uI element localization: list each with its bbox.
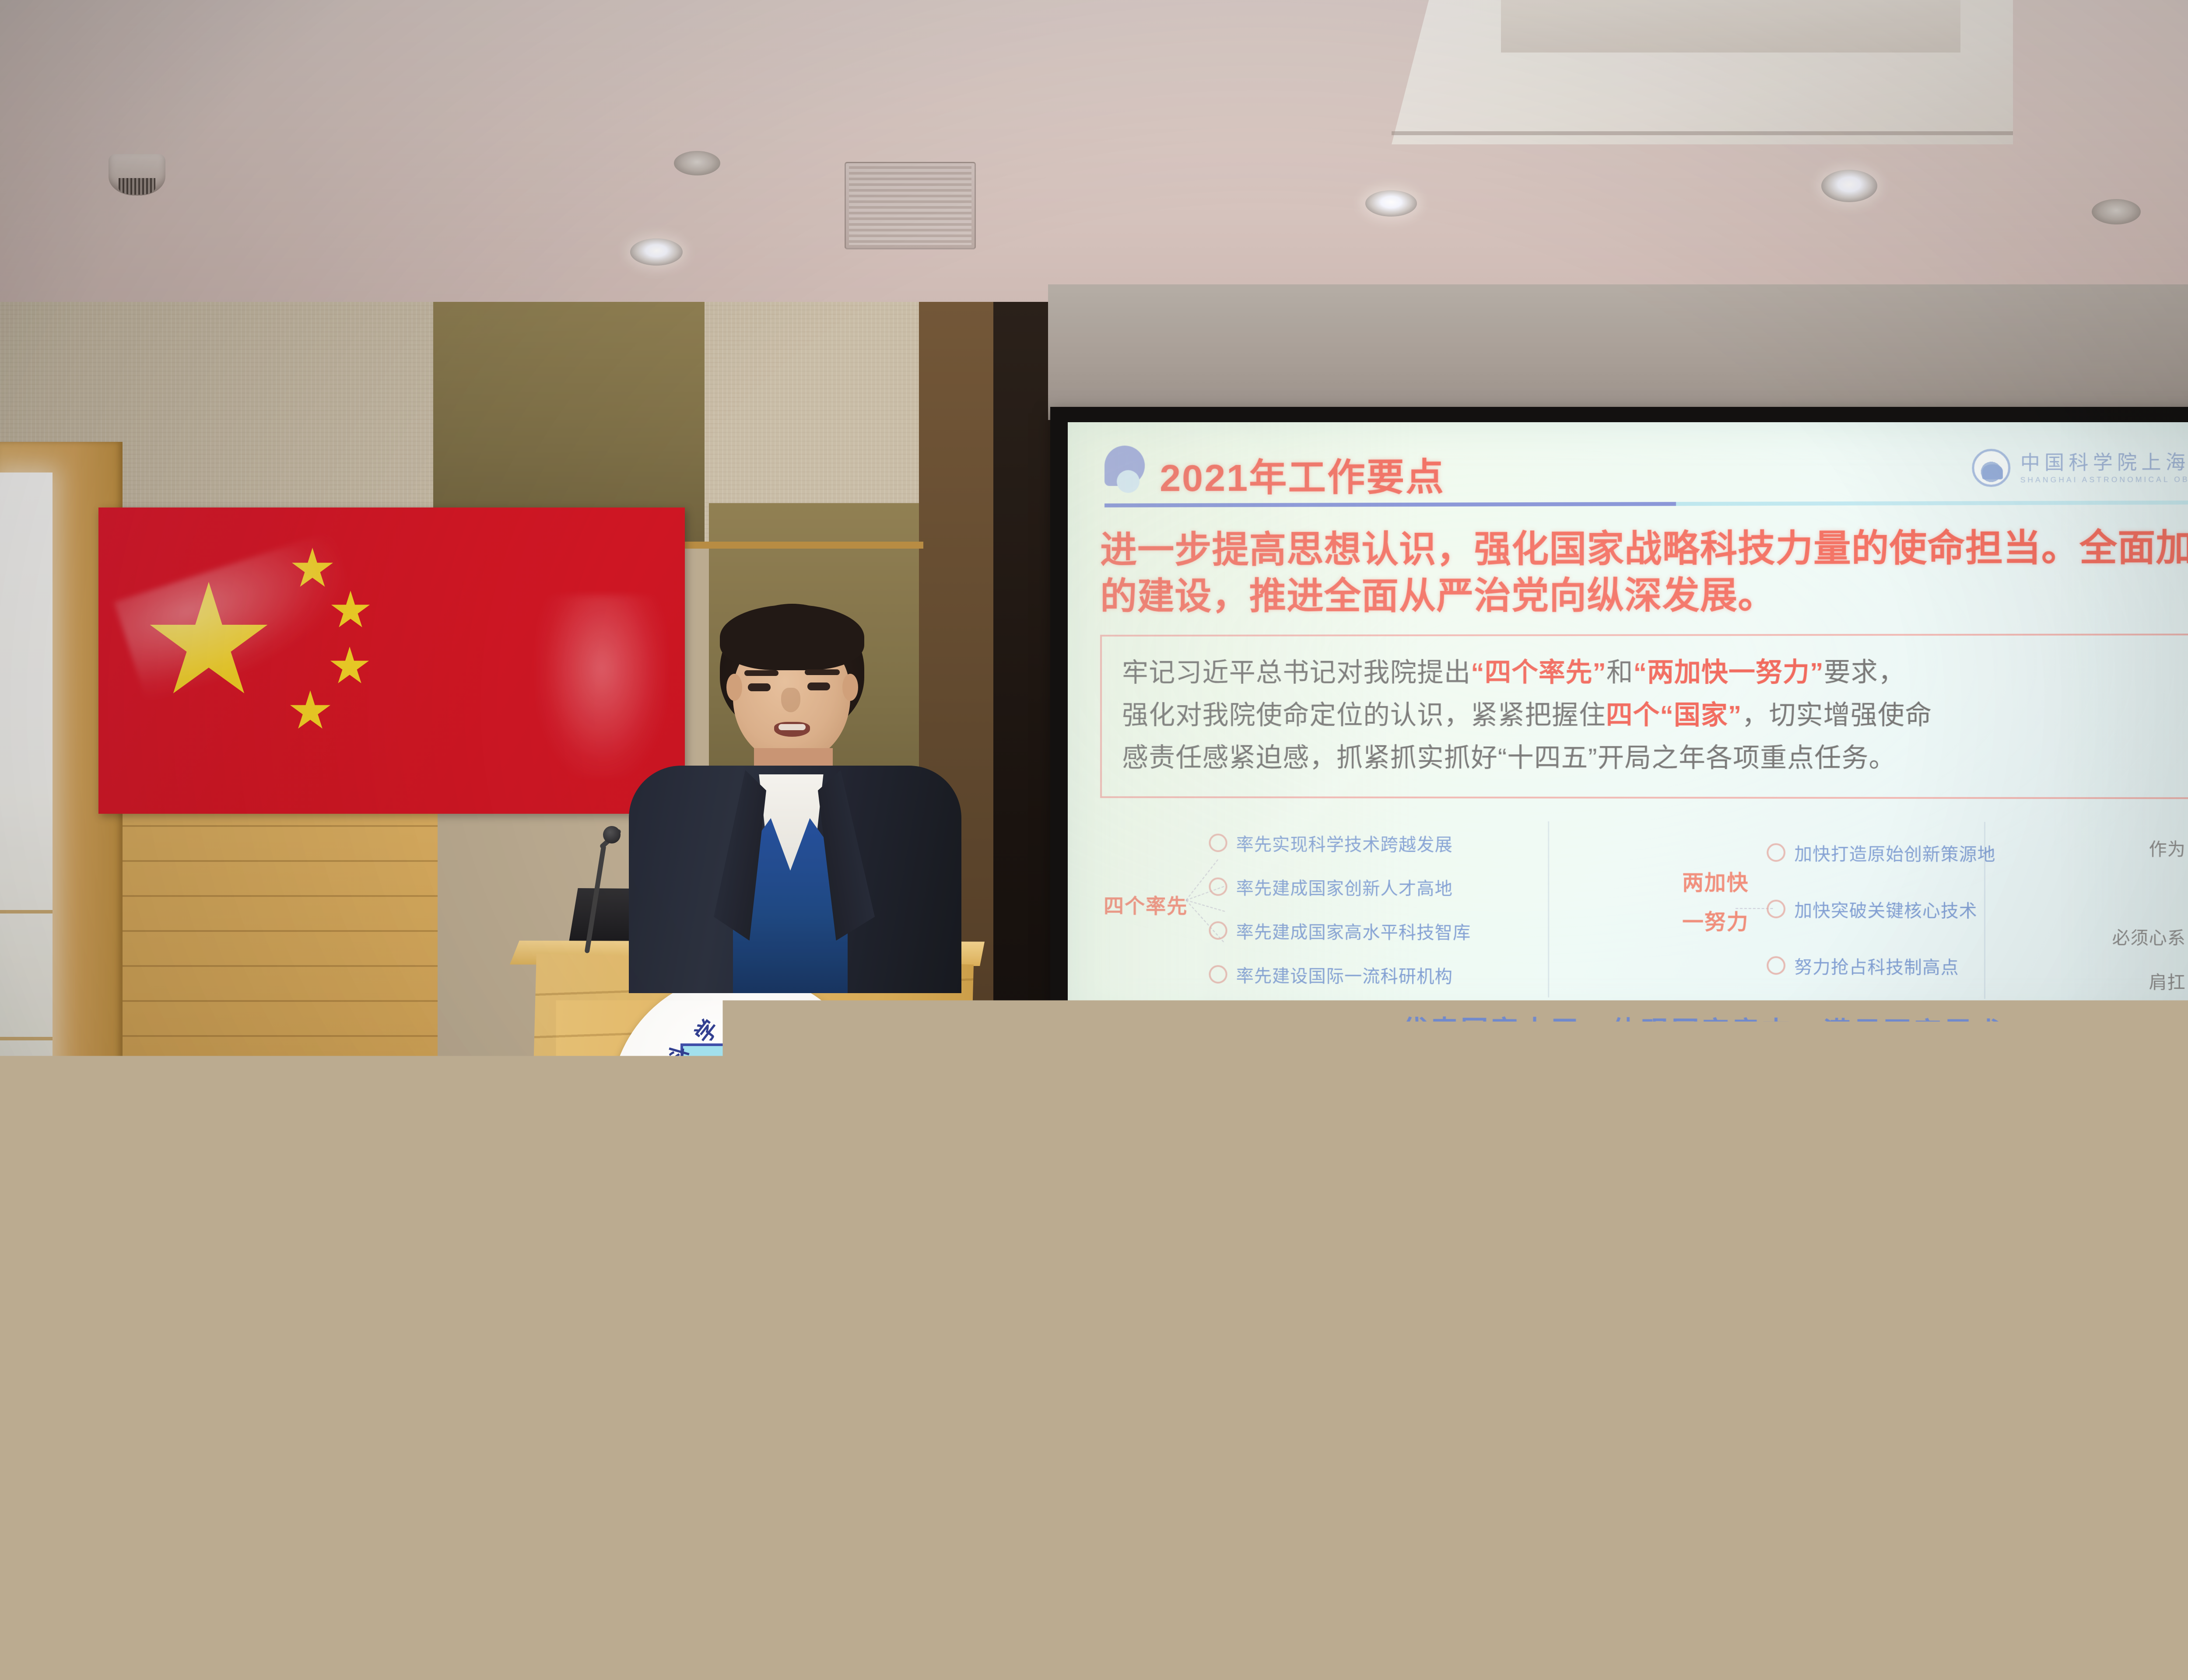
quote-2-highlight-1: 四个 xyxy=(1606,700,1660,729)
two-accelerate-bullet-list: 加快打造原始创新策源地 加快突破关键核心技术 努力抢占科技制高点 xyxy=(1767,824,1995,994)
ceiling-downlight xyxy=(674,151,720,175)
list-item: 率先建设国际一流科研机构 xyxy=(1209,952,1471,997)
screwdriver-shaft xyxy=(1613,1396,1632,1450)
slide-headline-line2: 的建设，推进全面从严治党向纵深发展。 xyxy=(1100,571,2188,620)
slide-quote-box: 牢记习近平总书记对我院提出“四个率先”和“两加快一努力”要求， 强化对我院使命定… xyxy=(1100,633,2188,799)
table-row: 必须心系“国家事” xyxy=(1985,914,2188,959)
bullet-ring-icon xyxy=(1767,843,1785,862)
speaker-eye-right xyxy=(807,682,830,690)
bullet-ring-icon xyxy=(1209,834,1227,852)
column-label-line1: 两加快 xyxy=(1682,864,1749,903)
list-item-label: 加快打造原始创新策源地 xyxy=(1794,840,1995,866)
smoke-detector xyxy=(109,154,165,196)
speaker-eyebrow-right xyxy=(805,669,840,675)
ceiling-soffit-upper xyxy=(1501,0,1960,52)
speaker-hair-front xyxy=(720,605,864,670)
observatory-logo: 中国科学院上海天文台 SHANGHAI ASTRONOMICAL OBSERVA… xyxy=(1972,448,2188,487)
quote-line-1: 牢记习近平总书记对我院提出“四个率先”和“两加快一努力”要求， xyxy=(1122,650,2188,694)
slide-title: 2021年工作要点 xyxy=(1160,446,1445,502)
desk-cable-grommet xyxy=(131,1411,173,1460)
speaker-nose xyxy=(781,688,800,712)
chair-back xyxy=(459,1540,766,1680)
screwdriver-shaft xyxy=(1655,1393,1670,1447)
bullet-ring-icon xyxy=(1767,956,1785,975)
quote-1c: 要求， xyxy=(1824,657,1906,687)
speaker-mouth xyxy=(774,722,810,737)
observatory-logo-mark xyxy=(1972,449,2010,487)
list-item: 率先建成国家创新人才高地 xyxy=(1209,865,1471,910)
desk-conference-microphone[interactable] xyxy=(1904,1444,1978,1483)
speaker-at-podium xyxy=(589,591,982,984)
observatory-logo-text: 中国科学院上海天文台 SHANGHAI ASTRONOMICAL OBSERVA… xyxy=(2020,450,2188,485)
quote-1a: 牢记习近平总书记对我院提出 xyxy=(1122,658,1471,687)
quote-2-highlight-2: “国家” xyxy=(1660,700,1742,730)
control-panel-knob[interactable] xyxy=(81,1627,96,1642)
bottle-brand-text: 农夫山泉 xyxy=(1804,1407,1847,1420)
row-prefix: 必须心系 xyxy=(2112,924,2185,949)
slide-footer: 代表国家水平、体现国家意志、满足国家需求 xyxy=(1100,1007,2188,1022)
quote-line-3: 感责任感紧迫感，抓紧抓实抓好“十四五”开局之年各项重点任务。 xyxy=(1122,736,2188,780)
window-mullion xyxy=(0,910,53,913)
desk-water-bottle[interactable]: 农夫山泉 xyxy=(1804,1317,1847,1439)
window-daylight xyxy=(0,472,53,1155)
speaker-eyebrow-left xyxy=(744,670,778,676)
mouse-brand-label: ThinkPad xyxy=(185,1506,210,1512)
quote-1-highlight-1: “四个率先” xyxy=(1471,658,1606,687)
window-mullion xyxy=(0,1037,53,1040)
observatory-logo-cn: 中国科学院上海天文台 xyxy=(2020,450,2188,475)
speaker-eye-left xyxy=(748,683,771,691)
list-item: 加快突破关键核心技术 xyxy=(1767,881,1995,938)
quote-1-highlight-2: “两加快一努力” xyxy=(1634,657,1824,687)
speech-bubble-icon xyxy=(1105,445,1145,486)
slide-three-columns: 四个率先 率先实现科学技术跨越发展 率先建成国家创新人才高地 率先建成国家高水平… xyxy=(1100,821,2188,1000)
flag-star-small xyxy=(289,690,331,732)
chair-back xyxy=(740,1575,1020,1680)
bullet-ring-icon xyxy=(1209,878,1227,896)
observatory-logo-en: SHANGHAI ASTRONOMICAL OBSERVATORY xyxy=(2020,475,2188,485)
slide-headline: 进一步提高思想认识，强化国家战略科技力量的使命担当。全面加强党 的建设，推进全面… xyxy=(1100,524,2188,619)
flag-star-small xyxy=(330,647,370,687)
table-row: 肩扛“国家责” xyxy=(1985,958,2188,1003)
slide-headline-line1: 进一步提高思想认识，强化国家战略科技力量的使命担当。全面加强党 xyxy=(1100,524,2188,574)
control-panel-knob[interactable] xyxy=(115,1628,130,1643)
column-label-two-accelerate: 两加快 一努力 xyxy=(1682,864,1749,942)
slide-column-national-roles: 作为“国家队” “国家人” 必须心系“国家事” 肩扛“国家责” xyxy=(1985,822,2188,1000)
chair-back xyxy=(1287,1531,1619,1680)
control-panel-led-red xyxy=(104,1658,116,1664)
national-roles-rows: 作为“国家队” “国家人” 必须心系“国家事” 肩扛“国家责” xyxy=(1985,826,2188,1004)
quote-2b: ，切实增强使命 xyxy=(1742,700,1932,730)
list-item: 率先建成国家高水平科技智库 xyxy=(1209,909,1471,953)
slide-column-four-firsts: 四个率先 率先实现科学技术跨越发展 率先建成国家创新人才高地 率先建成国家高水平… xyxy=(1100,821,1549,997)
list-item: 率先实现科学技术跨越发展 xyxy=(1209,821,1471,865)
four-firsts-bullet-list: 率先实现科学技术跨越发展 率先建成国家创新人才高地 率先建成国家高水平科技智库 … xyxy=(1209,821,1471,997)
screwdriver-grip xyxy=(1655,1441,1677,1477)
bottle-neck xyxy=(1817,1317,1834,1340)
list-item: 加快打造原始创新策源地 xyxy=(1767,824,1995,881)
ceiling-downlight xyxy=(1821,170,1877,202)
chair-back xyxy=(131,1522,464,1680)
ceiling-downlight xyxy=(2092,199,2141,224)
list-item-label: 率先建成国家创新人才高地 xyxy=(1236,874,1453,900)
projection-screen: 2021年工作要点 中国科学院上海天文台 SHANGHAI ASTRONOMIC… xyxy=(1068,422,2188,1022)
vent-slats xyxy=(849,166,971,245)
desk-laptop[interactable] xyxy=(0,1490,144,1540)
photo-scene: 2021年工作要点 中国科学院上海天文台 SHANGHAI ASTRONOMIC… xyxy=(0,0,2188,1680)
ceiling-downlight xyxy=(630,238,683,266)
chair-back xyxy=(1610,1522,1952,1680)
control-panel-led-white xyxy=(45,1659,56,1665)
window-mullion xyxy=(0,1113,53,1117)
bullet-ring-icon xyxy=(1767,900,1785,918)
speaker-ear-right xyxy=(842,674,858,701)
row-prefix: 作为 xyxy=(2149,835,2186,861)
row-prefix: 肩扛 xyxy=(2149,968,2186,994)
slide-header: 2021年工作要点 中国科学院上海天文台 SHANGHAI ASTRONOMIC… xyxy=(1100,438,2188,525)
speaker-ear-left xyxy=(726,674,742,701)
audience-glasses xyxy=(2181,1264,2188,1290)
quote-1b: 和 xyxy=(1606,658,1634,687)
table-row: “国家人” xyxy=(1985,870,2188,915)
control-panel-led-blue xyxy=(74,1657,85,1663)
list-item-label: 加快突破关键核心技术 xyxy=(1794,896,1977,923)
bullet-ring-icon xyxy=(1209,965,1227,983)
ceiling-downlight xyxy=(1365,190,1417,217)
quote-2a: 强化对我院使命定位的认识，紧紧把握住 xyxy=(1122,700,1606,730)
table-row: 作为“国家队” xyxy=(1985,826,2188,870)
list-item-label: 率先建成国家高水平科技智库 xyxy=(1236,918,1471,944)
list-item-label: 率先建设国际一流科研机构 xyxy=(1236,962,1453,988)
bullet-ring-icon xyxy=(1209,921,1227,940)
column-label-four-firsts: 四个率先 xyxy=(1104,890,1188,919)
list-item-label: 率先实现科学技术跨越发展 xyxy=(1236,830,1453,856)
projection-screen-valance xyxy=(1048,284,2188,420)
list-item: 努力抢占科技制高点 xyxy=(1767,937,1995,994)
chair-back xyxy=(1917,1549,2188,1680)
slide-column-two-accelerate: 两加快 一努力 加快打造原始创新策源地 加快突破关键核心技术 努力抢占科技制高点 xyxy=(1549,822,1985,999)
quote-line-2: 强化对我院使命定位的认识，紧紧把握住四个“国家”，切实增强使命 xyxy=(1122,693,2188,737)
audience-coat-hood xyxy=(372,1282,652,1413)
control-panel-knob[interactable] xyxy=(47,1628,62,1643)
ceiling-air-vent xyxy=(845,162,976,249)
bottle-label-red: 农夫山泉 xyxy=(1804,1404,1847,1427)
presentation-slide: 2021年工作要点 中国科学院上海天文台 SHANGHAI ASTRONOMIC… xyxy=(1068,422,2188,1022)
list-item-label: 努力抢占科技制高点 xyxy=(1794,953,1959,979)
ceiling-step-shadow xyxy=(1392,131,2013,135)
projection-screen-bottom-band xyxy=(1050,1022,2188,1073)
